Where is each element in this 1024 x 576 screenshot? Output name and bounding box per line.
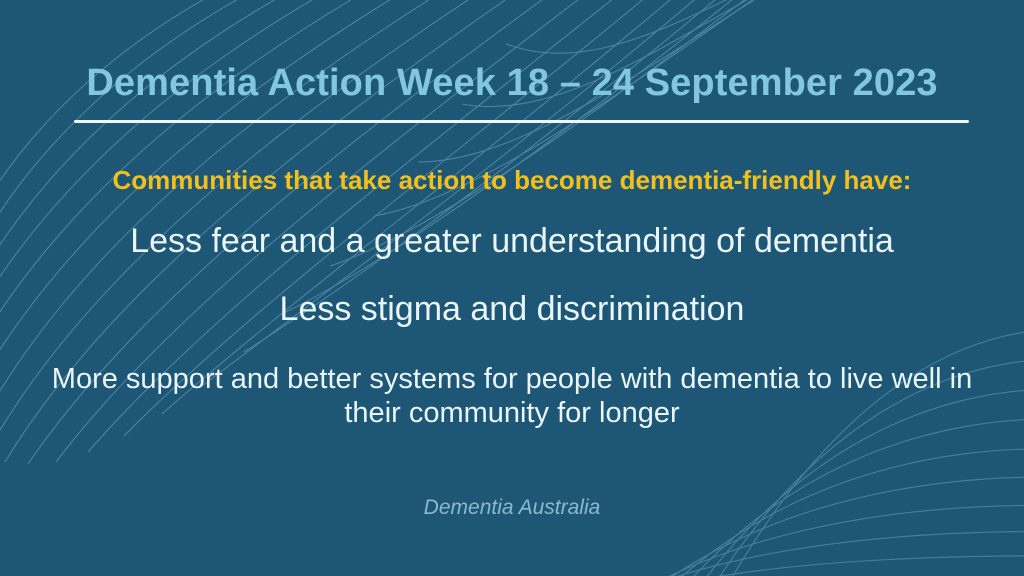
benefit-item-2: Less stigma and discrimination [40,289,984,329]
benefit-item-1: Less fear and a greater understanding of… [40,221,984,261]
slide-canvas: Dementia Action Week 18 – 24 September 2… [0,0,1024,576]
slide-content: Dementia Action Week 18 – 24 September 2… [0,0,1024,576]
benefit-item-3: More support and better systems for peop… [40,362,984,430]
attribution-source: Dementia Australia [0,496,1024,520]
page-title: Dementia Action Week 18 – 24 September 2… [0,62,1024,105]
subtitle-heading: Communities that take action to become d… [0,165,1024,196]
title-underline-rule [74,120,969,123]
